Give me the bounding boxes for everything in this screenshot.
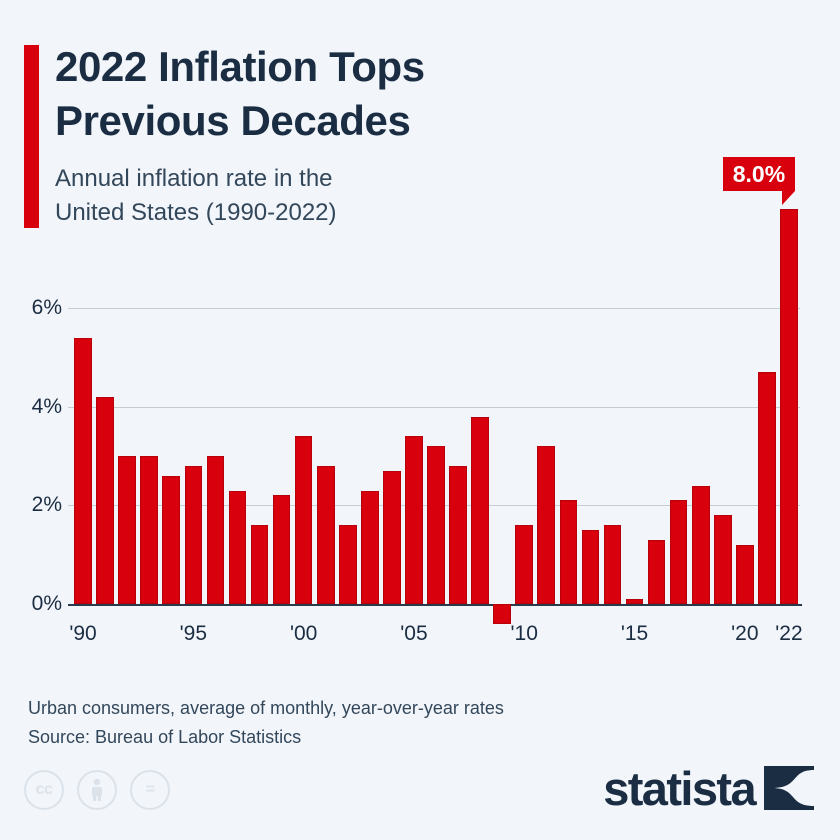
bar-2019 xyxy=(714,515,732,604)
no-derivatives-icon[interactable]: = xyxy=(130,770,170,810)
license-badges: cc= xyxy=(24,770,170,810)
bar-2004 xyxy=(383,471,401,604)
attribution-icon[interactable] xyxy=(77,770,117,810)
bar-2014 xyxy=(604,525,622,604)
bar-2002 xyxy=(339,525,357,604)
bar-1994 xyxy=(162,476,180,604)
x-axis-line xyxy=(68,604,802,606)
gridline xyxy=(68,308,800,309)
bar-2010 xyxy=(515,525,533,604)
bar-2003 xyxy=(361,491,379,604)
bar-2008 xyxy=(471,417,489,604)
bar-1996 xyxy=(207,456,225,604)
x-tick-label: '15 xyxy=(621,622,648,646)
bar-2017 xyxy=(670,500,688,604)
gridline xyxy=(68,407,800,408)
bar-2020 xyxy=(736,545,754,604)
bar-2005 xyxy=(405,436,423,604)
bar-2013 xyxy=(582,530,600,604)
bar-2007 xyxy=(449,466,467,604)
bar-1990 xyxy=(74,338,92,604)
footnote: Urban consumers, average of monthly, yea… xyxy=(28,694,728,723)
x-tick-label: '10 xyxy=(511,622,538,646)
x-tick-label: '22 xyxy=(775,622,802,646)
bar-2016 xyxy=(648,540,666,604)
y-tick-label: 4% xyxy=(0,395,62,419)
x-tick-label: '05 xyxy=(400,622,427,646)
source-note: Source: Bureau of Labor Statistics xyxy=(28,723,728,752)
bar-2022 xyxy=(780,209,798,604)
bar-1993 xyxy=(140,456,158,604)
bar-1997 xyxy=(229,491,247,604)
bar-2000 xyxy=(295,436,313,604)
creative-commons-icon[interactable]: cc xyxy=(24,770,64,810)
logo-wordmark: statista xyxy=(603,765,755,812)
bar-2021 xyxy=(758,372,776,604)
bar-2001 xyxy=(317,466,335,604)
statista-logo: statista xyxy=(603,764,814,812)
bar-2012 xyxy=(560,500,578,604)
y-tick-label: 2% xyxy=(0,493,62,517)
statista-mark-icon xyxy=(764,764,814,812)
bar-1992 xyxy=(118,456,136,604)
bar-2018 xyxy=(692,486,710,604)
bar-2006 xyxy=(427,446,445,604)
x-tick-label: '20 xyxy=(731,622,758,646)
x-tick-label: '00 xyxy=(290,622,317,646)
bar-1998 xyxy=(251,525,269,604)
value-callout: 8.0% xyxy=(723,157,795,191)
x-tick-label: '90 xyxy=(69,622,96,646)
bar-2009 xyxy=(493,604,511,624)
callout-tail-icon xyxy=(782,191,795,205)
bar-1991 xyxy=(96,397,114,604)
x-tick-label: '95 xyxy=(180,622,207,646)
bar-1999 xyxy=(273,495,291,604)
bar-1995 xyxy=(185,466,203,604)
y-tick-label: 6% xyxy=(0,296,62,320)
bar-2011 xyxy=(537,446,555,604)
footer-notes: Urban consumers, average of monthly, yea… xyxy=(28,694,728,752)
bar-2015 xyxy=(626,599,644,604)
callout-label: 8.0% xyxy=(733,161,785,188)
y-tick-label: 0% xyxy=(0,592,62,616)
